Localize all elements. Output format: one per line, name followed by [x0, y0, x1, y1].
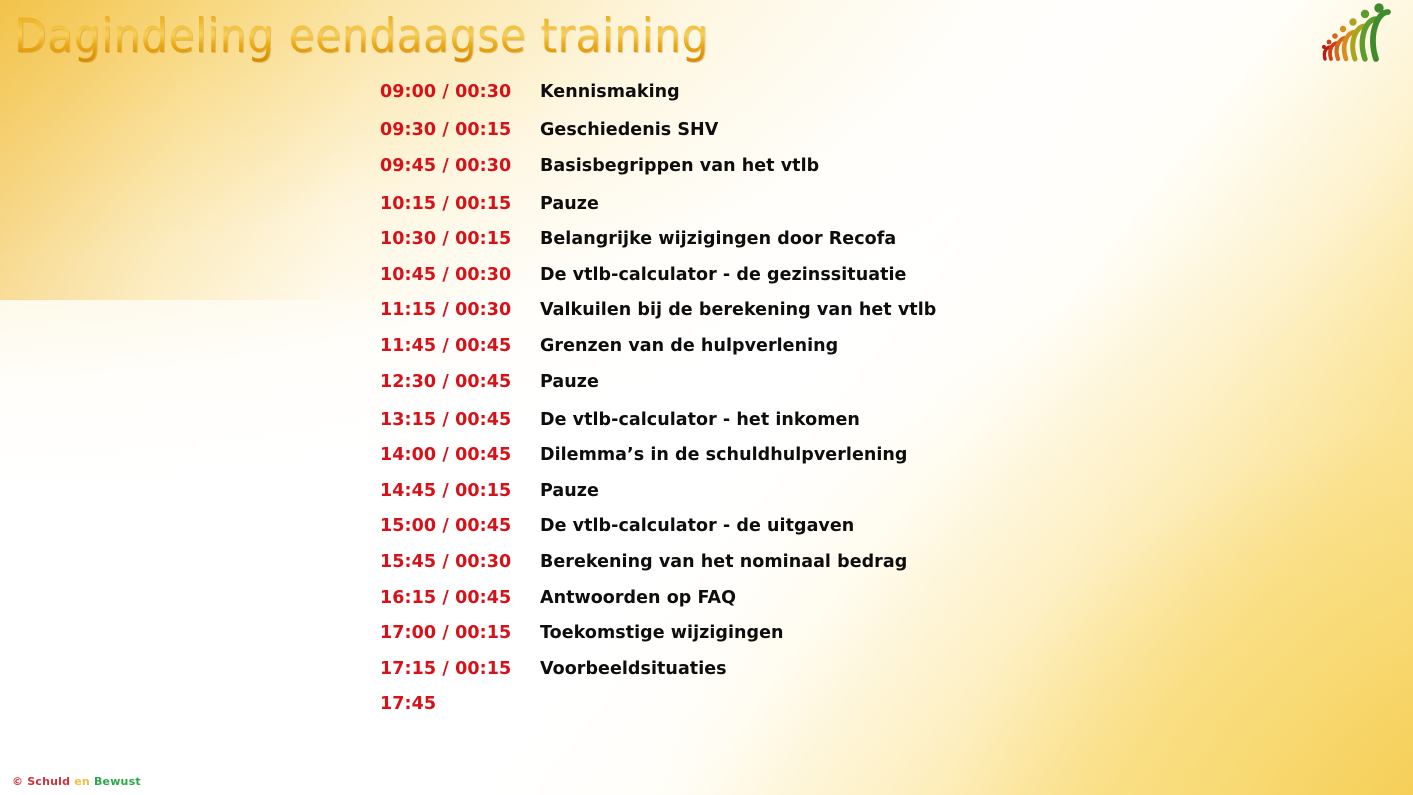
schedule-description: Pauze [540, 481, 599, 501]
schedule-time: 15:45 / 00:30 [380, 552, 540, 572]
schedule-time: 10:30 / 00:15 [380, 229, 540, 249]
schedule-description: Pauze [540, 194, 599, 214]
schedule-description: Basisbegrippen van het vtlb [540, 156, 819, 176]
footer-copyright: © Schuld en Bewust [12, 775, 141, 788]
schedule-row: 13:15 / 00:45 De vtlb-calculator - het i… [380, 410, 1370, 446]
schedule-time: 14:00 / 00:45 [380, 445, 540, 465]
schedule-row: 09:00 / 00:30 Kennismaking [380, 82, 1370, 120]
schedule-row: 10:15 / 00:15 Pauze [380, 194, 1370, 230]
schedule-time: 17:15 / 00:15 [380, 659, 540, 679]
page-title: Dagindeling eendaagse training [14, 8, 709, 66]
schedule-time: 10:15 / 00:15 [380, 194, 540, 214]
schedule-description: Grenzen van de hulpverlening [540, 336, 838, 356]
schedule-row: 14:00 / 00:45 Dilemma’s in de schuldhulp… [380, 445, 1370, 481]
schedule-row: 16:15 / 00:45 Antwoorden op FAQ [380, 588, 1370, 624]
schedule-row: 09:30 / 00:15 Geschiedenis SHV [380, 120, 1370, 156]
schedule-time: 09:00 / 00:30 [380, 82, 540, 102]
schedule-row: 11:45 / 00:45 Grenzen van de hulpverleni… [380, 336, 1370, 372]
schedule-row: 17:15 / 00:15 Voorbeeldsituaties [380, 659, 1370, 695]
schedule-description: Antwoorden op FAQ [540, 588, 736, 608]
schedule-time: 17:00 / 00:15 [380, 623, 540, 643]
schedule-row: 12:30 / 00:45 Pauze [380, 372, 1370, 410]
schuld-en-bewust-logo-icon [1319, 2, 1397, 62]
schedule-row: 15:00 / 00:45 De vtlb-calculator - de ui… [380, 516, 1370, 552]
schedule-time: 17:45 [380, 694, 540, 714]
schedule-description: Geschiedenis SHV [540, 120, 718, 140]
schedule-time: 10:45 / 00:30 [380, 265, 540, 285]
schedule-row: 10:45 / 00:30 De vtlb-calculator - de ge… [380, 265, 1370, 301]
schedule-row: 11:15 / 00:30 Valkuilen bij de berekenin… [380, 300, 1370, 336]
schedule-time: 14:45 / 00:15 [380, 481, 540, 501]
footer-copyright-text: © Schuld [12, 775, 70, 788]
schedule-description: Valkuilen bij de berekening van het vtlb [540, 300, 936, 320]
footer-suffix-word: Bewust [94, 775, 141, 788]
schedule-time: 09:30 / 00:15 [380, 120, 540, 140]
schedule-row: 17:45 [380, 694, 1370, 730]
schedule-time: 11:45 / 00:45 [380, 336, 540, 356]
schedule-row: 10:30 / 00:15 Belangrijke wijzigingen do… [380, 229, 1370, 265]
schedule-row: 15:45 / 00:30 Berekening van het nominaa… [380, 552, 1370, 588]
schedule-description: De vtlb-calculator - het inkomen [540, 410, 860, 430]
slide-canvas: Dagindeling eendaagse training Dagindeli… [0, 0, 1413, 795]
schedule-description: De vtlb-calculator - de uitgaven [540, 516, 854, 536]
schedule-description: De vtlb-calculator - de gezinssituatie [540, 265, 906, 285]
schedule-description: Dilemma’s in de schuldhulpverlening [540, 445, 908, 465]
schedule-time: 09:45 / 00:30 [380, 156, 540, 176]
training-schedule-list: 09:00 / 00:30 Kennismaking 09:30 / 00:15… [380, 82, 1370, 730]
schedule-description: Toekomstige wijzigingen [540, 623, 784, 643]
schedule-row: 17:00 / 00:15 Toekomstige wijzigingen [380, 623, 1370, 659]
schedule-time: 12:30 / 00:45 [380, 372, 540, 392]
schedule-time: 15:00 / 00:45 [380, 516, 540, 536]
schedule-time: 13:15 / 00:45 [380, 410, 540, 430]
schedule-row: 14:45 / 00:15 Pauze [380, 481, 1370, 517]
schedule-description: Voorbeeldsituaties [540, 659, 727, 679]
footer-middle-word: en [74, 775, 90, 788]
schedule-time: 11:15 / 00:30 [380, 300, 540, 320]
schedule-description: Kennismaking [540, 82, 680, 102]
schedule-description: Berekening van het nominaal bedrag [540, 552, 907, 572]
schedule-time: 16:15 / 00:45 [380, 588, 540, 608]
schedule-row: 09:45 / 00:30 Basisbegrippen van het vtl… [380, 156, 1370, 194]
schedule-description: Pauze [540, 372, 599, 392]
schedule-description: Belangrijke wijzigingen door Recofa [540, 229, 896, 249]
